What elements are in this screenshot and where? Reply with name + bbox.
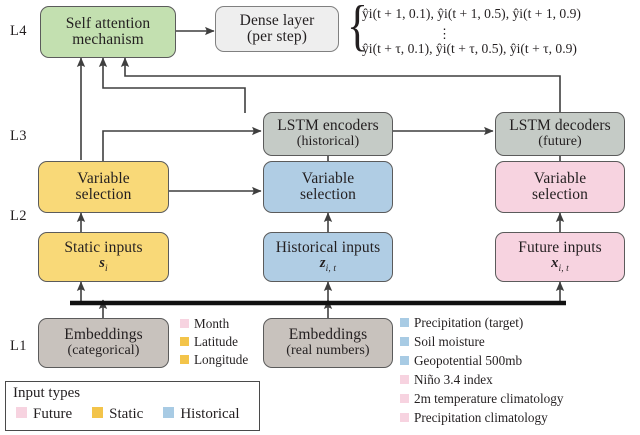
swatch-historical-icon xyxy=(400,318,409,327)
real-variable-label-1: Soil moisture xyxy=(414,334,485,349)
output-equation-row2: ŷi(t + τ, 0.1), ŷi(t + τ, 0.5), ŷi(t + τ… xyxy=(362,41,577,57)
embeddings-categorical-line1: Embeddings xyxy=(64,327,143,343)
vs-future-line2: selection xyxy=(532,187,588,203)
vs-future-line1: Variable xyxy=(534,171,586,187)
dense-layer-block[interactable]: Dense layer (per step) xyxy=(215,6,339,52)
lstm-decoders-line1: LSTM decoders xyxy=(509,118,611,134)
swatch-historical-icon xyxy=(400,356,409,365)
categorical-variable-label-2: Longitude xyxy=(194,352,248,367)
real-variable-item-4: 2m temperature climatology xyxy=(400,391,563,407)
categorical-variable-item-0: Month xyxy=(180,316,229,332)
future-inputs-label: Future inputs xyxy=(518,240,602,256)
architecture-diagram: L4 L3 L2 L1 Self attention mechanism Den… xyxy=(0,0,640,435)
legend-items: FutureStaticHistorical xyxy=(16,406,260,423)
legend-swatch-static-icon xyxy=(92,407,103,418)
level-label-l4: L4 xyxy=(10,23,27,40)
self-attention-line2: mechanism xyxy=(72,32,144,48)
historical-inputs-block[interactable]: Historical inputs zi, t xyxy=(263,232,393,282)
output-equation-row1: ŷi(t + 1, 0.1), ŷi(t + 1, 0.5), ŷi(t + 1… xyxy=(362,6,581,22)
swatch-historical-icon xyxy=(400,337,409,346)
vs-historical-line1: Variable xyxy=(302,171,354,187)
self-attention-line1: Self attention xyxy=(66,16,150,32)
real-variable-label-2: Geopotential 500mb xyxy=(414,353,522,368)
wire-decoders-to-attention xyxy=(125,58,560,112)
future-inputs-block[interactable]: Future inputs xi, t xyxy=(495,232,625,282)
legend-label-historical: Historical xyxy=(180,406,239,422)
embeddings-real-block[interactable]: Embeddings (real numbers) xyxy=(263,318,393,368)
lstm-decoders-block[interactable]: LSTM decoders (future) xyxy=(495,112,625,156)
legend-title: Input types xyxy=(13,385,80,402)
static-inputs-block[interactable]: Static inputs si xyxy=(38,232,169,282)
future-inputs-symbol-sub: i, t xyxy=(558,264,568,274)
real-variable-item-0: Precipitation (target) xyxy=(400,315,523,331)
legend-swatch-future-icon xyxy=(16,407,27,418)
output-equation-ellipsis: ⋮ xyxy=(438,26,451,42)
swatch-future-icon xyxy=(400,394,409,403)
legend-label-static: Static xyxy=(109,406,143,422)
swatch-static-icon xyxy=(180,337,189,346)
embeddings-categorical-block[interactable]: Embeddings (categorical) xyxy=(38,318,169,368)
legend-label-future: Future xyxy=(33,406,72,422)
variable-selection-future-block[interactable]: Variable selection xyxy=(495,161,625,213)
historical-inputs-symbol: zi, t xyxy=(320,256,336,274)
historical-inputs-symbol-sub: i, t xyxy=(326,264,336,274)
real-variable-label-3: Niño 3.4 index xyxy=(414,372,493,387)
historical-inputs-label: Historical inputs xyxy=(276,240,381,256)
dense-layer-line1: Dense layer xyxy=(240,13,315,29)
wire-encoders-to-attention xyxy=(103,58,245,113)
connector-layer xyxy=(0,0,640,435)
level-label-l2: L2 xyxy=(10,208,27,225)
lstm-encoders-block[interactable]: LSTM encoders (historical) xyxy=(263,112,393,156)
real-variable-label-0: Precipitation (target) xyxy=(414,315,523,330)
swatch-future-icon xyxy=(400,375,409,384)
future-inputs-symbol: xi, t xyxy=(551,256,569,274)
output-equation-row1-text: ŷi(t + 1, 0.1), ŷi(t + 1, 0.5), ŷi(t + 1… xyxy=(362,6,581,21)
real-variable-label-4: 2m temperature climatology xyxy=(414,391,563,406)
categorical-variable-label-0: Month xyxy=(194,316,229,331)
level-label-l3: L3 xyxy=(10,128,27,145)
self-attention-block[interactable]: Self attention mechanism xyxy=(40,6,176,58)
categorical-variable-item-1: Latitude xyxy=(180,334,238,350)
lstm-encoders-line1: LSTM encoders xyxy=(277,118,379,134)
embeddings-real-line1: Embeddings xyxy=(289,327,368,343)
real-variable-item-5: Precipitation climatology xyxy=(400,410,548,426)
output-equation-row2-text: ŷi(t + τ, 0.1), ŷi(t + τ, 0.5), ŷi(t + τ… xyxy=(362,41,577,56)
real-variable-item-3: Niño 3.4 index xyxy=(400,372,493,388)
embeddings-categorical-line2: (categorical) xyxy=(67,344,139,359)
categorical-variable-label-1: Latitude xyxy=(194,334,238,349)
categorical-variable-item-2: Longitude xyxy=(180,352,248,368)
vs-static-line1: Variable xyxy=(77,171,129,187)
vs-historical-line2: selection xyxy=(300,187,356,203)
real-variable-item-1: Soil moisture xyxy=(400,334,485,350)
dense-layer-line2: (per step) xyxy=(247,29,307,45)
swatch-future-icon xyxy=(400,413,409,422)
real-variable-item-2: Geopotential 500mb xyxy=(400,353,522,369)
static-inputs-label: Static inputs xyxy=(64,240,142,256)
swatch-static-icon xyxy=(180,355,189,364)
variable-selection-historical-block[interactable]: Variable selection xyxy=(263,161,393,213)
legend-swatch-historical-icon xyxy=(163,407,174,418)
level-label-l1: L1 xyxy=(10,338,27,355)
variable-selection-static-block[interactable]: Variable selection xyxy=(38,161,169,213)
swatch-future-icon xyxy=(180,319,189,328)
lstm-decoders-line2: (future) xyxy=(538,135,582,150)
lstm-encoders-line2: (historical) xyxy=(297,135,360,150)
legend-box: Input types FutureStaticHistorical xyxy=(5,381,260,431)
static-inputs-symbol: si xyxy=(99,256,108,274)
real-variable-label-5: Precipitation climatology xyxy=(414,410,548,425)
vs-static-line2: selection xyxy=(76,187,132,203)
embeddings-real-line2: (real numbers) xyxy=(286,344,369,359)
static-inputs-symbol-sub: i xyxy=(105,264,108,274)
